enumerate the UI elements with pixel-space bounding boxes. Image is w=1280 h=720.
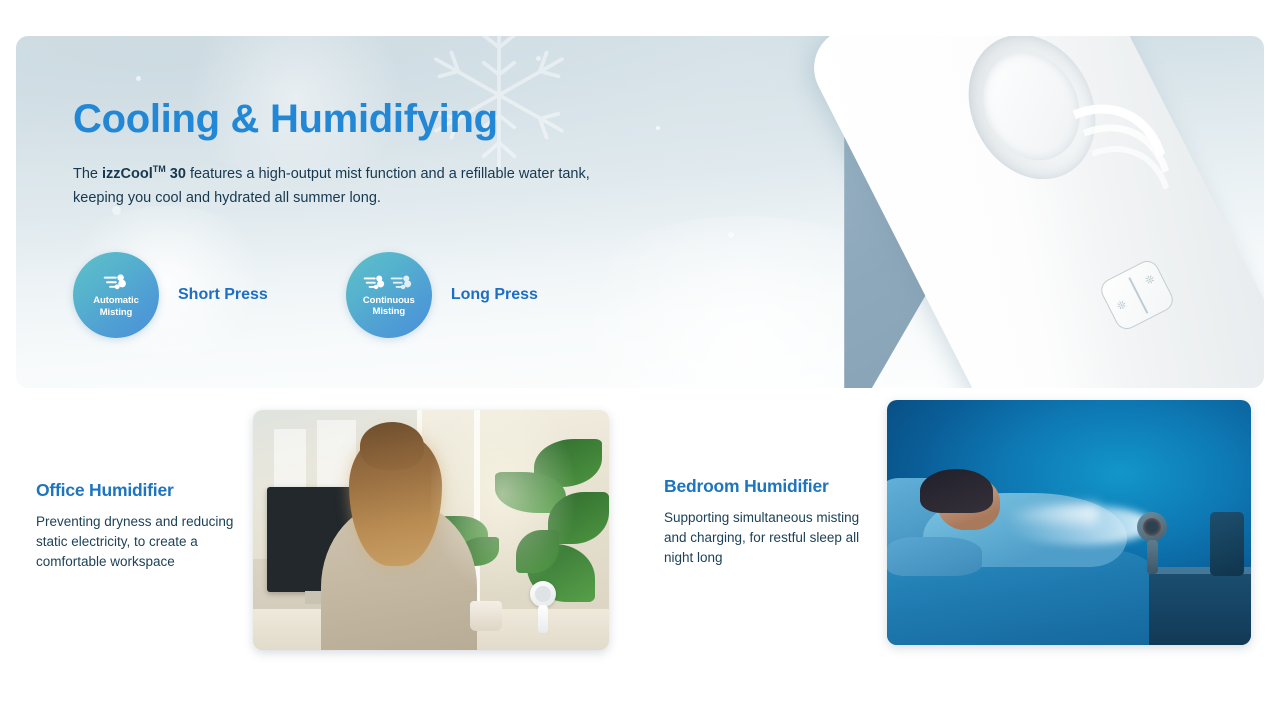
feature-image-office bbox=[253, 410, 609, 650]
portable-fan-device bbox=[1137, 512, 1167, 574]
press-modes-group: Automatic Misting Short Press bbox=[73, 252, 590, 338]
product-body bbox=[800, 36, 1264, 388]
fan-head bbox=[1137, 512, 1167, 542]
subtitle-line1-rest: features a high-output mist function and… bbox=[186, 166, 590, 182]
product-air-ring bbox=[944, 36, 1119, 201]
nightstand bbox=[1142, 567, 1251, 645]
button-divider bbox=[1128, 277, 1147, 313]
subtitle-line2: keeping you cool and hydrated all summer… bbox=[73, 190, 381, 206]
fan-glyph-icon: ❊ bbox=[1115, 298, 1129, 314]
product-name: izzCool bbox=[102, 166, 153, 182]
snowflake-icon bbox=[1034, 214, 1130, 310]
badge-icon-group bbox=[363, 273, 414, 292]
badge-label: Continuous Misting bbox=[363, 295, 415, 317]
person-hair-top bbox=[360, 422, 424, 470]
feature-text-block: Office Humidifier Preventing dryness and… bbox=[36, 410, 236, 572]
subtitle-prefix: The bbox=[73, 166, 102, 182]
badge-continuous-misting[interactable]: Continuous Misting bbox=[346, 252, 432, 338]
mode-label-short-press: Short Press bbox=[178, 286, 268, 304]
product-arc bbox=[1001, 100, 1199, 311]
trademark-symbol: TM bbox=[153, 164, 166, 174]
badge-label: Automatic Misting bbox=[93, 295, 139, 317]
hero-banner: ❊ ❊ Cooling & Humidifying The izzCoolTM … bbox=[16, 36, 1264, 388]
person-hair bbox=[920, 469, 993, 513]
snow-dot-decoration bbox=[676, 366, 682, 372]
feature-bedroom-humidifier: Bedroom Humidifier Supporting simultaneo… bbox=[664, 400, 1251, 645]
badge-label-line2: Misting bbox=[373, 306, 406, 317]
light-bloom-decoration bbox=[536, 216, 956, 388]
feature-image-bedroom bbox=[887, 400, 1251, 645]
bedside-cylinder-object bbox=[1210, 512, 1244, 576]
page-title: Cooling & Humidifying bbox=[73, 99, 590, 139]
product-model: 30 bbox=[170, 166, 186, 182]
snow-dot-decoration bbox=[656, 126, 660, 130]
sunlight-glow bbox=[431, 410, 609, 650]
feature-description-bedroom: Supporting simultaneous misting and char… bbox=[664, 508, 864, 568]
hero-subtitle: The izzCoolTM 30 features a high-output … bbox=[73, 162, 590, 210]
person-arm bbox=[887, 537, 982, 576]
product-arc bbox=[985, 79, 1197, 306]
snow-dot-decoration bbox=[892, 336, 899, 343]
mist-spray bbox=[1004, 498, 1099, 530]
product-control-button: ❊ ❊ bbox=[1097, 257, 1177, 333]
feature-title-office: Office Humidifier bbox=[36, 480, 236, 501]
product-background-gradient bbox=[844, 36, 1264, 388]
fan-handle bbox=[1147, 540, 1158, 574]
product-arc bbox=[1018, 124, 1196, 313]
mist-glyph-icon: ❊ bbox=[1143, 272, 1157, 288]
hero-content: Cooling & Humidifying The izzCoolTM 30 f… bbox=[73, 99, 590, 338]
mode-long-press[interactable]: Continuous Misting Long Press bbox=[346, 252, 538, 338]
wind-mist-icon bbox=[363, 273, 387, 292]
feature-text-block: Bedroom Humidifier Supporting simultaneo… bbox=[664, 400, 864, 568]
feature-office-humidifier: Office Humidifier Preventing dryness and… bbox=[36, 410, 609, 650]
mode-short-press[interactable]: Automatic Misting Short Press bbox=[73, 252, 268, 338]
badge-label-line1: Automatic bbox=[93, 295, 139, 306]
mode-label-long-press: Long Press bbox=[451, 286, 538, 304]
wind-mist-icon bbox=[390, 273, 414, 292]
badge-icon-group bbox=[103, 272, 129, 292]
snow-dot-decoration bbox=[846, 106, 851, 111]
snow-dot-decoration bbox=[728, 232, 734, 238]
snow-dot-decoration bbox=[1026, 286, 1032, 292]
building-shape bbox=[274, 429, 306, 491]
snow-dot-decoration bbox=[136, 76, 141, 81]
product-image: ❊ ❊ bbox=[844, 36, 1264, 388]
feature-description-office: Preventing dryness and reducing static e… bbox=[36, 512, 236, 572]
wind-mist-icon bbox=[103, 272, 129, 292]
badge-label-line2: Misting bbox=[100, 307, 133, 318]
snow-dot-decoration bbox=[536, 56, 541, 61]
badge-label-line1: Continuous bbox=[363, 295, 415, 306]
feature-title-bedroom: Bedroom Humidifier bbox=[664, 476, 864, 497]
badge-automatic-misting[interactable]: Automatic Misting bbox=[73, 252, 159, 338]
